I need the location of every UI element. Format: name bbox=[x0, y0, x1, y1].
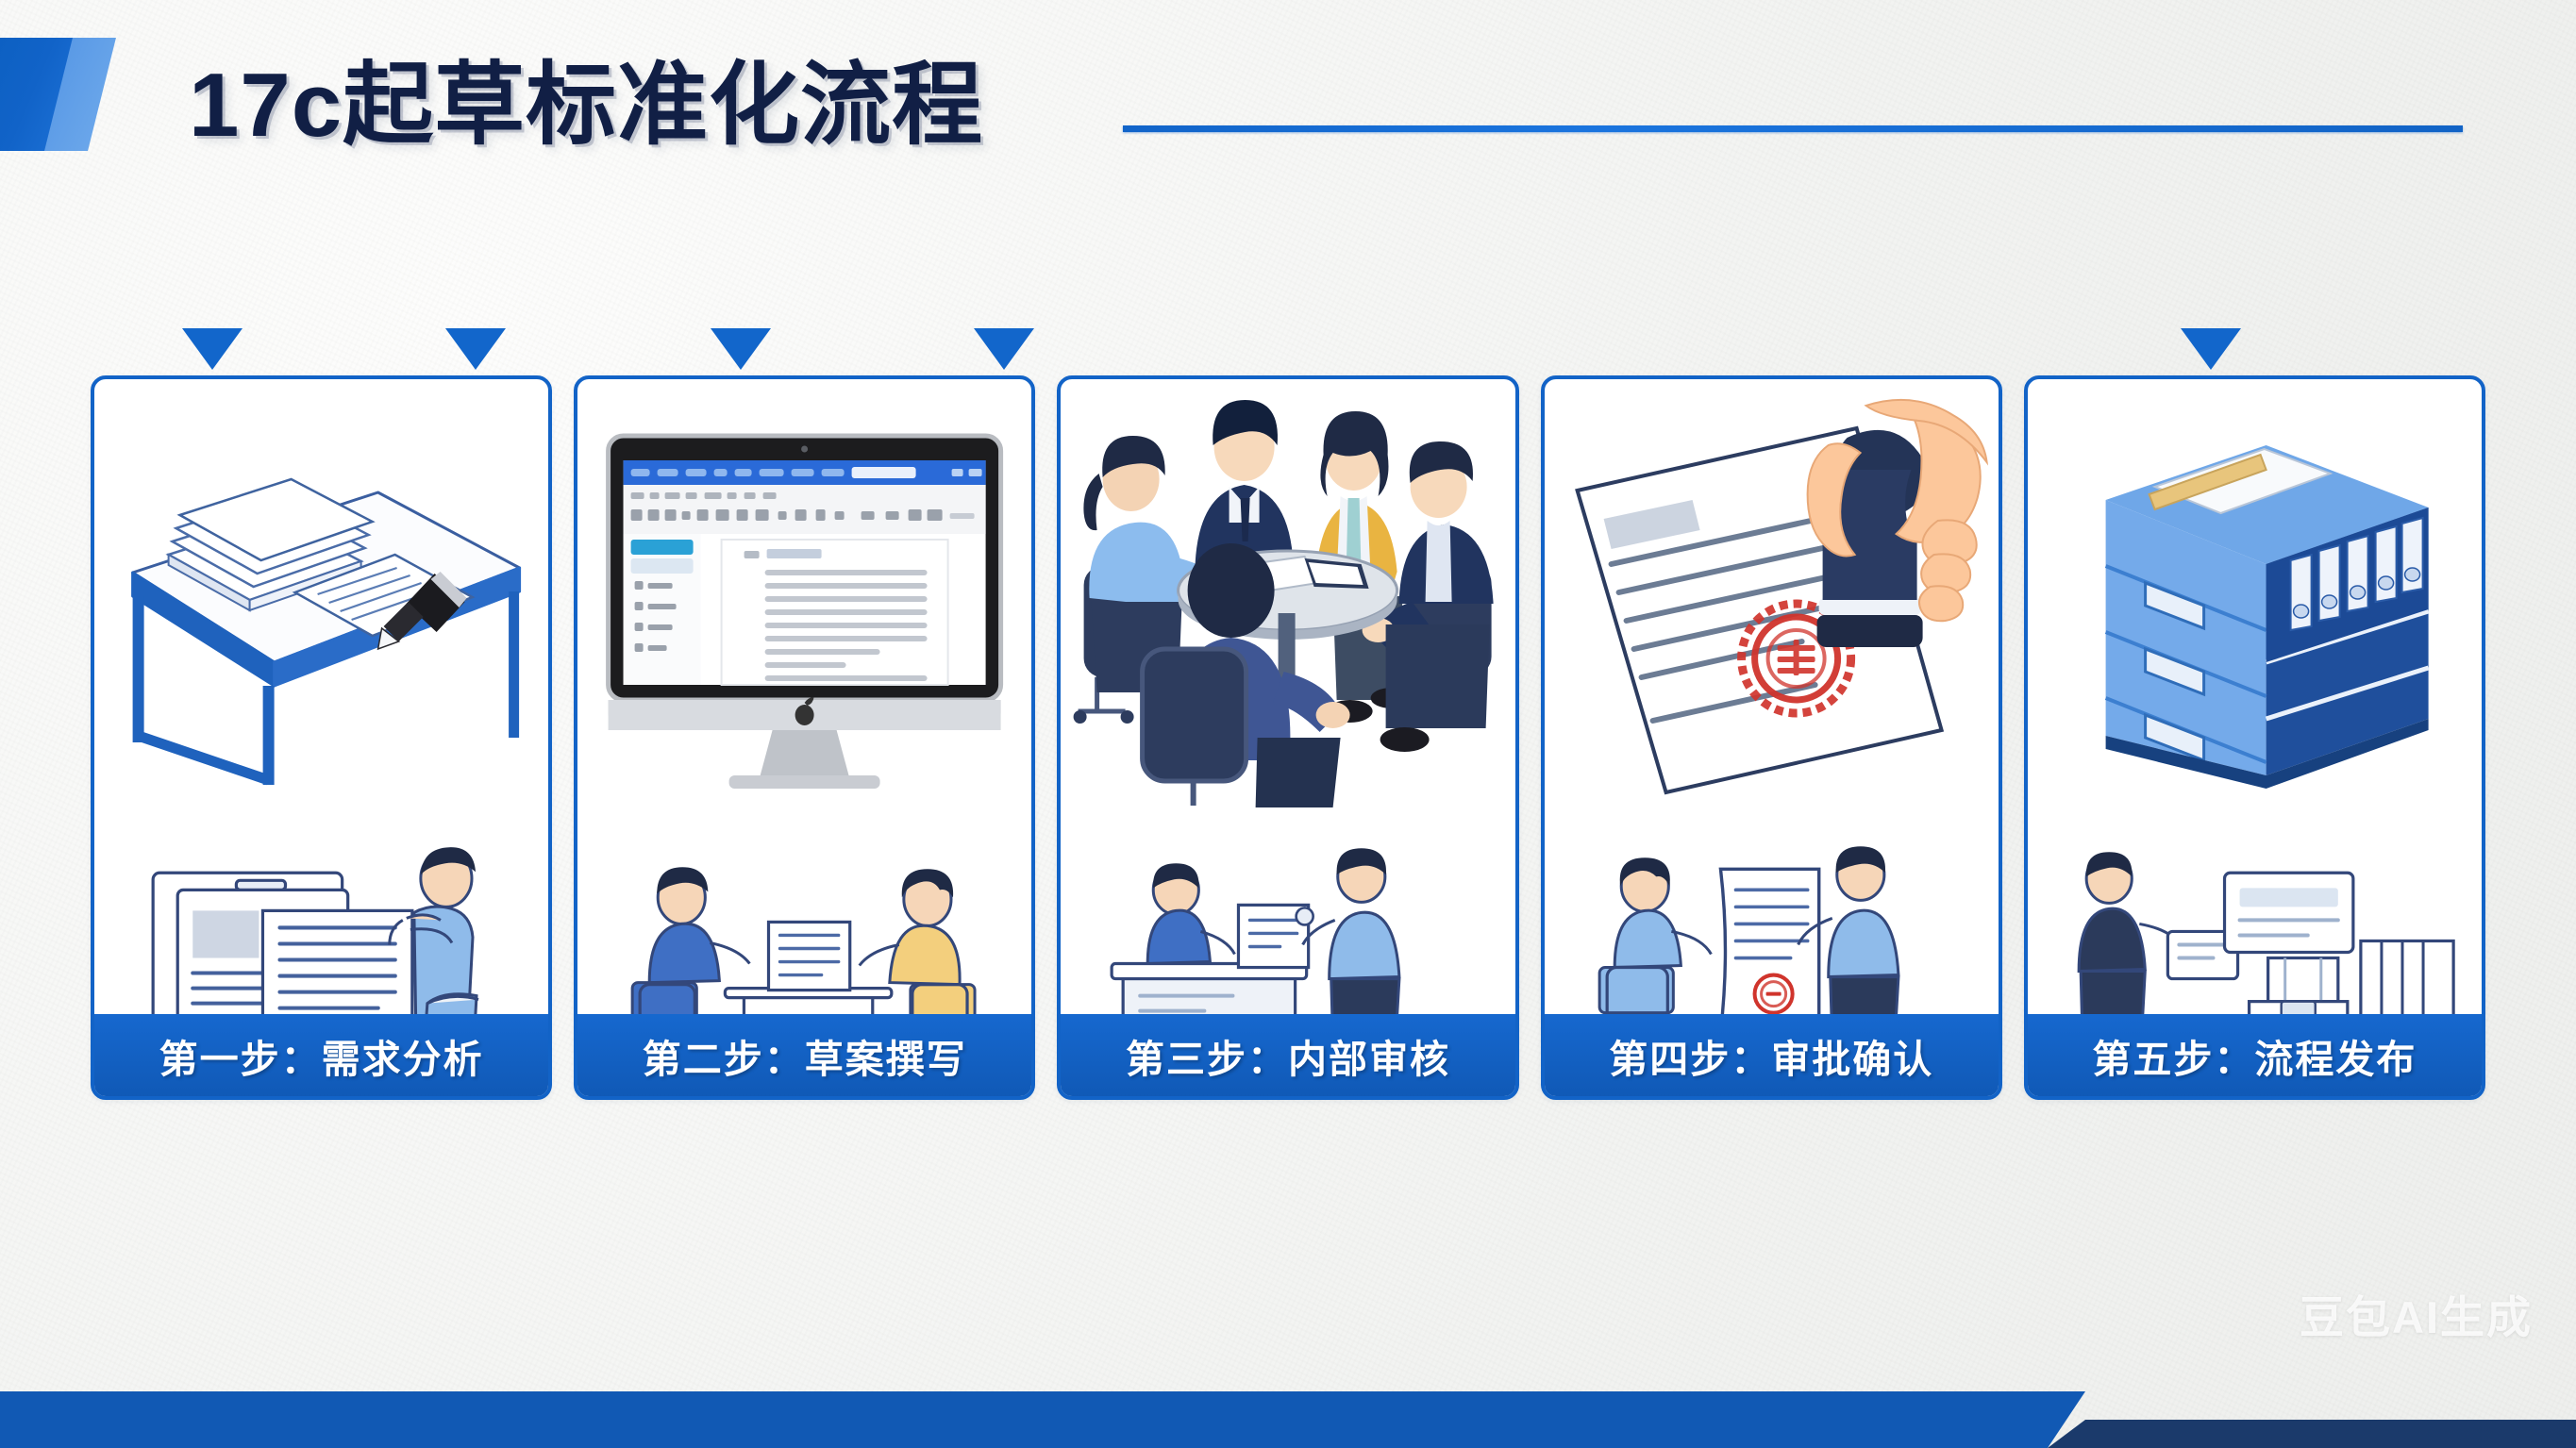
slide-canvas: 17c起草标准化流程 bbox=[0, 0, 2576, 1448]
step-card-4[interactable]: 第四步：审批确认 bbox=[1541, 375, 2002, 1100]
step-card-5-label: 第五步：流程发布 bbox=[2027, 1014, 2483, 1097]
step-card-5[interactable]: 第五步：流程发布 bbox=[2024, 375, 2485, 1100]
imac-monitor-document-editor-icon bbox=[577, 379, 1031, 808]
bottom-decoration-bar bbox=[0, 1377, 2576, 1448]
watermark-label: 豆包AI生成 bbox=[2300, 1281, 2533, 1346]
step-card-2-label: 第二步：草案撰写 bbox=[577, 1014, 1032, 1097]
step-card-2[interactable]: 第二步：草案撰写 bbox=[574, 375, 1035, 1100]
flow-step-cards: 第一步：需求分析 bbox=[91, 375, 2485, 1100]
hand-stamping-document-red-seal-icon bbox=[1545, 379, 1999, 808]
step-card-3[interactable]: 第三步：内部审核 bbox=[1057, 375, 1518, 1100]
desk-with-paper-stack-and-pen-icon bbox=[94, 379, 548, 808]
step-card-3-label: 第三步：内部审核 bbox=[1060, 1014, 1515, 1097]
five-people-round-table-meeting-icon bbox=[1061, 379, 1514, 808]
step-card-1-label: 第一步：需求分析 bbox=[93, 1014, 549, 1097]
flow-connectors bbox=[0, 0, 2576, 396]
blue-filing-cabinet-with-binders-icon bbox=[2028, 379, 2482, 808]
step-card-1[interactable]: 第一步：需求分析 bbox=[91, 375, 552, 1100]
step-card-4-label: 第四步：审批确认 bbox=[1544, 1014, 1999, 1097]
